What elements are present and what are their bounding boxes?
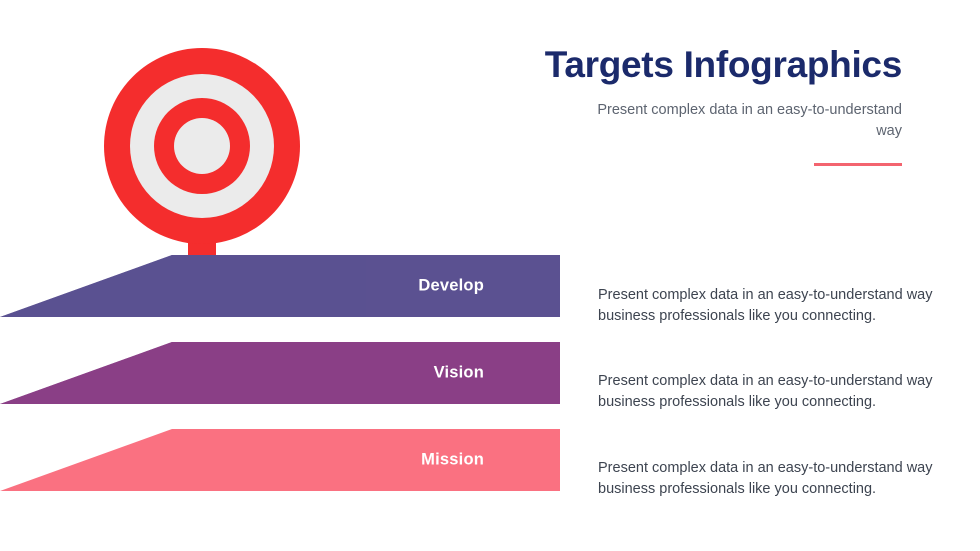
funnel-step-vision[interactable]: Vision xyxy=(0,342,560,404)
funnel-label-develop: Develop xyxy=(418,277,484,296)
funnel-step-mission[interactable]: Mission xyxy=(0,429,560,491)
accent-divider xyxy=(814,163,902,166)
step-description-mission: Present complex data in an easy-to-under… xyxy=(598,458,934,500)
funnel-step-develop[interactable]: Develop xyxy=(0,255,560,317)
target-bullseye-icon xyxy=(104,48,300,272)
target-ring-center xyxy=(174,118,230,174)
page-title: Targets Infographics xyxy=(545,44,902,86)
step-description-vision: Present complex data in an easy-to-under… xyxy=(598,371,934,413)
page-subtitle: Present complex data in an easy-to-under… xyxy=(572,100,902,142)
funnel-label-mission: Mission xyxy=(421,451,484,470)
funnel-label-vision: Vision xyxy=(434,364,484,383)
step-description-develop: Present complex data in an easy-to-under… xyxy=(598,285,934,327)
